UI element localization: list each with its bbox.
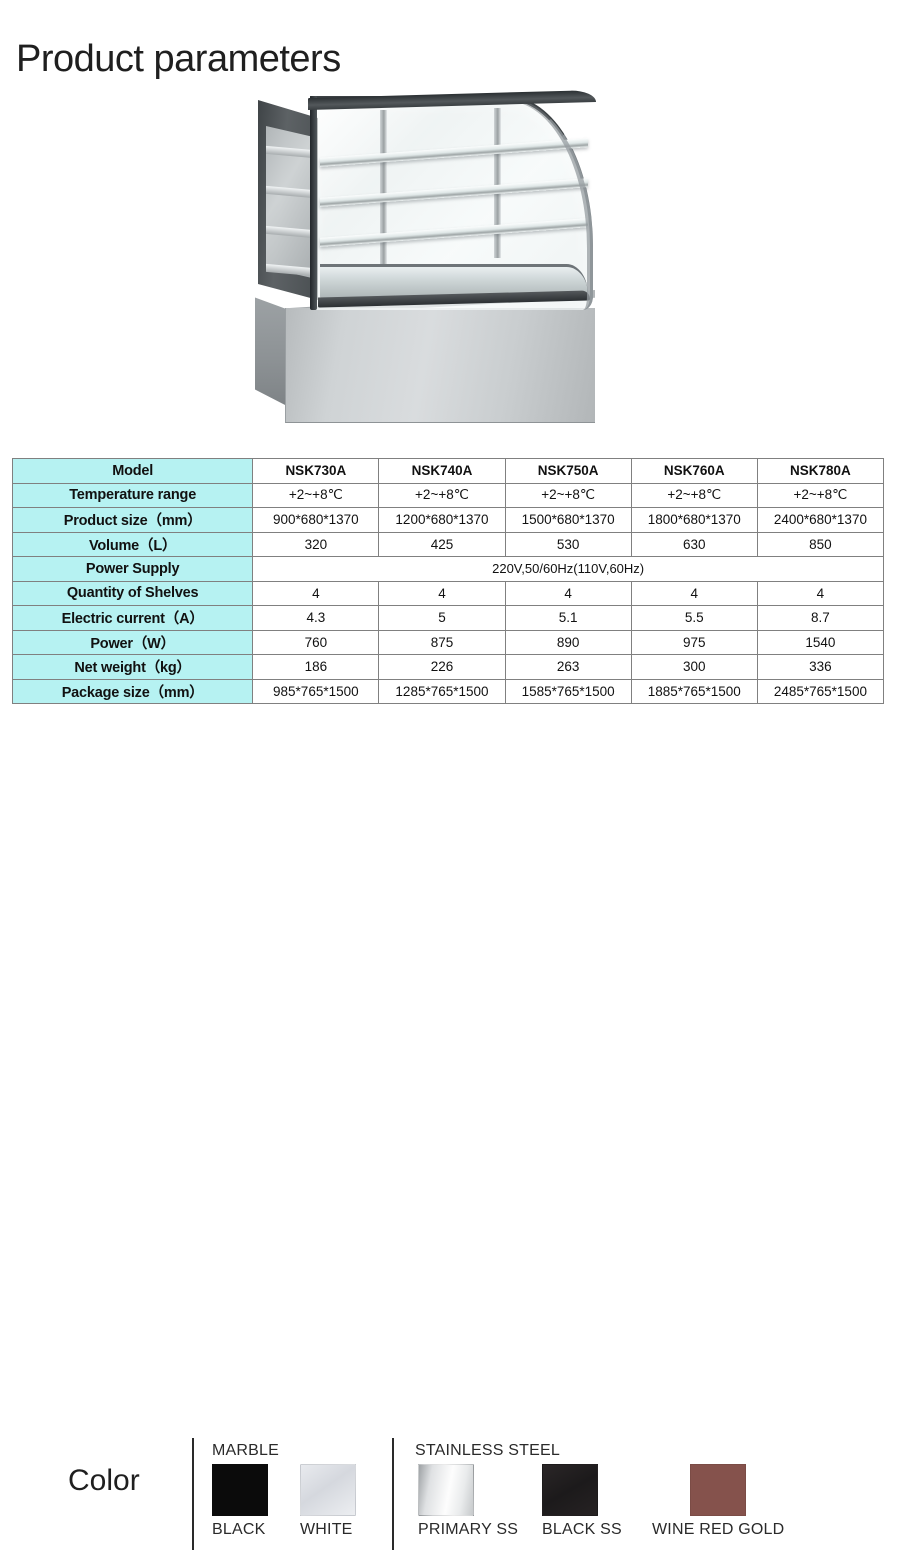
cell-value: 8.7	[757, 606, 883, 631]
row-label: Volume（L）	[13, 532, 253, 557]
cell-value: 900*680*1370	[253, 508, 379, 533]
cell-value: 425	[379, 532, 505, 557]
cell-value: 186	[253, 655, 379, 680]
table-row: Net weight（kg） 186 226 263 300 336	[13, 655, 884, 680]
cell-value: 5	[379, 606, 505, 631]
model-cell-3: NSK750A	[505, 459, 631, 484]
color-swatch-wine-red-gold[interactable]: WINE RED GOLD	[690, 1464, 784, 1539]
swatch-chip	[418, 1464, 474, 1516]
swatch-label: BLACK SS	[542, 1521, 622, 1539]
cell-value: 1540	[757, 630, 883, 655]
table-row-model: Model NSK730A NSK740A NSK750A NSK760A NS…	[13, 459, 884, 484]
table-row: Volume（L） 320 425 530 630 850	[13, 532, 884, 557]
swatch-label: WINE RED GOLD	[652, 1521, 784, 1539]
row-label: Power Supply	[13, 557, 253, 582]
swatch-label: WHITE	[300, 1521, 356, 1539]
cell-value: 4	[631, 581, 757, 606]
row-label: Quantity of Shelves	[13, 581, 253, 606]
color-swatch-white[interactable]: WHITE	[300, 1464, 356, 1539]
color-swatch-black-ss[interactable]: BLACK SS	[542, 1464, 622, 1539]
cell-value: 5.1	[505, 606, 631, 631]
color-swatch-black[interactable]: BLACK	[212, 1464, 268, 1539]
color-section-title: Color	[68, 1464, 140, 1498]
cell-value: 336	[757, 655, 883, 680]
row-label: Temperature range	[13, 483, 253, 508]
glass-cabinet	[258, 96, 593, 311]
row-label: Package size（mm）	[13, 679, 253, 704]
model-cell-1: NSK730A	[253, 459, 379, 484]
cell-value: 890	[505, 630, 631, 655]
cell-value: 4	[253, 581, 379, 606]
swatch-chip	[300, 1464, 356, 1516]
color-group-label-marble: MARBLE	[212, 1442, 279, 1460]
swatch-chip	[542, 1464, 598, 1516]
cell-value: +2~+8℃	[631, 483, 757, 508]
table-row: Power（W） 760 875 890 975 1540	[13, 630, 884, 655]
row-header-model: Model	[13, 459, 253, 484]
product-image-display-case	[240, 88, 610, 428]
table-row: Temperature range +2~+8℃ +2~+8℃ +2~+8℃ +…	[13, 483, 884, 508]
table-row: Electric current（A） 4.3 5 5.1 5.5 8.7	[13, 606, 884, 631]
cell-value: 4	[379, 581, 505, 606]
swatch-chip	[212, 1464, 268, 1516]
cell-value: +2~+8℃	[379, 483, 505, 508]
cell-value: 530	[505, 532, 631, 557]
cell-value: 4.3	[253, 606, 379, 631]
cell-value: 2485*765*1500	[757, 679, 883, 704]
section-divider-2	[392, 1438, 394, 1550]
color-swatch-primary-ss[interactable]: PRIMARY SS	[418, 1464, 518, 1539]
page-title: Product parameters	[16, 38, 341, 81]
cell-value: 1285*765*1500	[379, 679, 505, 704]
color-group-label-stainless-steel: STAINLESS STEEL	[415, 1442, 560, 1460]
swatch-label: BLACK	[212, 1521, 268, 1539]
cell-value: 1885*765*1500	[631, 679, 757, 704]
row-label: Net weight（kg）	[13, 655, 253, 680]
row-label: Power（W）	[13, 630, 253, 655]
cell-value: +2~+8℃	[757, 483, 883, 508]
cell-value: 1585*765*1500	[505, 679, 631, 704]
cell-value: 4	[505, 581, 631, 606]
cell-value: 985*765*1500	[253, 679, 379, 704]
cell-value: 1800*680*1370	[631, 508, 757, 533]
cell-value: 320	[253, 532, 379, 557]
model-cell-4: NSK760A	[631, 459, 757, 484]
table-row: Package size（mm） 985*765*1500 1285*765*1…	[13, 679, 884, 704]
color-options-section: Color MARBLE BLACK WHITE STAINLESS STEEL…	[0, 712, 900, 852]
cell-value: 850	[757, 532, 883, 557]
shelf-support-post-left	[380, 110, 387, 270]
cell-value: 760	[253, 630, 379, 655]
cell-value: 875	[379, 630, 505, 655]
cell-value-merged: 220V,50/60Hz(110V,60Hz)	[253, 557, 884, 582]
display-case-illustration	[240, 88, 610, 428]
table-row: Product size（mm） 900*680*1370 1200*680*1…	[13, 508, 884, 533]
row-label: Product size（mm）	[13, 508, 253, 533]
cell-value: +2~+8℃	[505, 483, 631, 508]
shelf-support-post-right	[494, 108, 501, 258]
cell-value: 4	[757, 581, 883, 606]
swatch-label: PRIMARY SS	[418, 1521, 518, 1539]
table-row-power-supply: Power Supply 220V,50/60Hz(110V,60Hz)	[13, 557, 884, 582]
cell-value: 630	[631, 532, 757, 557]
swatch-chip	[690, 1464, 746, 1516]
model-cell-2: NSK740A	[379, 459, 505, 484]
specification-table: Model NSK730A NSK740A NSK750A NSK760A NS…	[12, 458, 884, 704]
model-cell-5: NSK780A	[757, 459, 883, 484]
cell-value: 263	[505, 655, 631, 680]
cell-value: 226	[379, 655, 505, 680]
cell-value: 1200*680*1370	[379, 508, 505, 533]
cell-value: 2400*680*1370	[757, 508, 883, 533]
cell-value: 5.5	[631, 606, 757, 631]
base-front-panel	[285, 308, 595, 423]
cell-value: +2~+8℃	[253, 483, 379, 508]
cell-value: 1500*680*1370	[505, 508, 631, 533]
row-label: Electric current（A）	[13, 606, 253, 631]
spec-table-body: Model NSK730A NSK740A NSK750A NSK760A NS…	[13, 459, 884, 704]
table-row: Quantity of Shelves 4 4 4 4 4	[13, 581, 884, 606]
cell-value: 975	[631, 630, 757, 655]
cell-value: 300	[631, 655, 757, 680]
section-divider-1	[192, 1438, 194, 1550]
